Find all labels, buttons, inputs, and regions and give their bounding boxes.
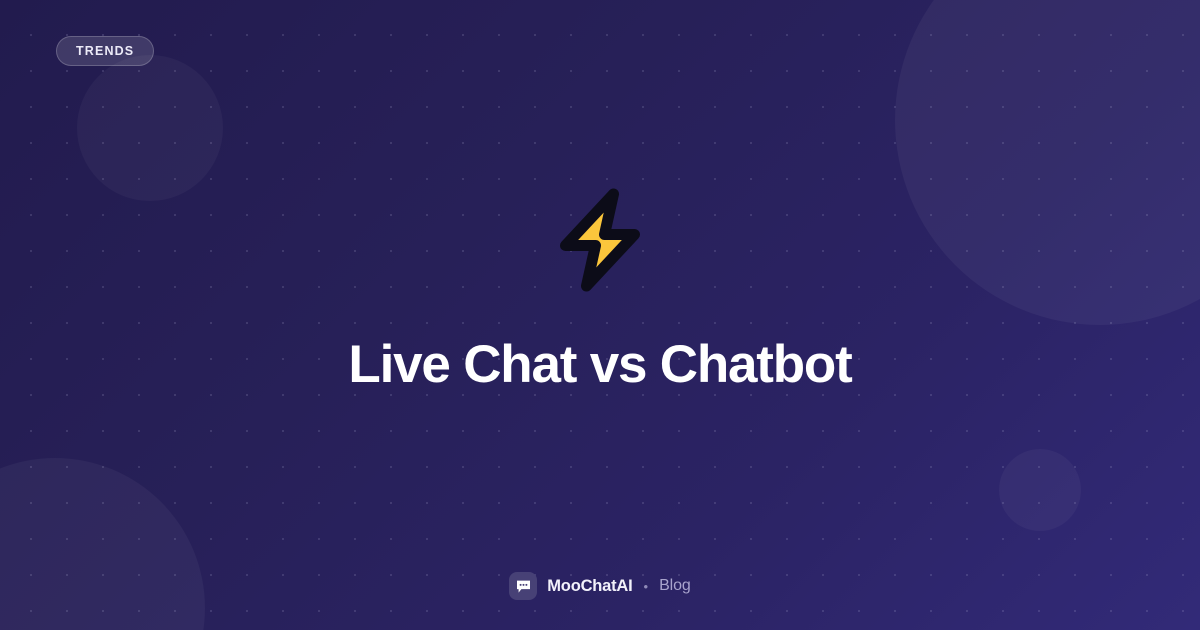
footer-brand: MooChatAI • Blog xyxy=(0,572,1200,600)
lightning-bolt-icon xyxy=(552,188,648,292)
chat-bubble-icon xyxy=(509,572,537,600)
hero-section: Live Chat vs Chatbot xyxy=(0,0,1200,630)
footer-section-name: Blog xyxy=(659,577,691,595)
og-card: TRENDS Live Chat vs Chatbot MooChatAI • … xyxy=(0,0,1200,630)
brand-name: MooChatAI xyxy=(547,577,632,596)
footer-separator: • xyxy=(644,580,649,593)
page-title: Live Chat vs Chatbot xyxy=(348,336,851,394)
